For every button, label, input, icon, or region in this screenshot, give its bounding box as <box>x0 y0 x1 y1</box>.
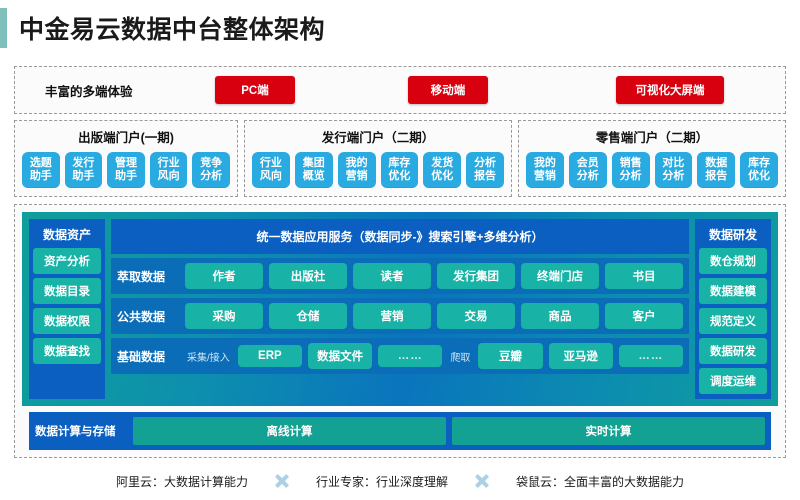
portal-chip-inventory-optimization[interactable]: 库存 优化 <box>381 152 419 188</box>
portal-chip-my-marketing[interactable]: 我的 营销 <box>526 152 564 188</box>
portal-publishing: 出版端门户(一期) 选题 助手 发行 助手 管理 助手 行业 风向 <box>14 120 238 197</box>
chip-line-2: 优化 <box>381 170 419 183</box>
column-item-data-permission[interactable]: 数据权限 <box>33 308 101 334</box>
pill-more-collect[interactable]: …… <box>378 345 442 367</box>
portal-chip-group-overview[interactable]: 集团 概览 <box>295 152 333 188</box>
pill-erp[interactable]: ERP <box>238 345 302 367</box>
compute-storage-label: 数据计算与存储 <box>35 423 127 439</box>
portal-chip-topic-assistant[interactable]: 选题 助手 <box>22 152 60 188</box>
column-data-asset-title: 数据资产 <box>43 223 91 248</box>
pill-customer[interactable]: 客户 <box>605 303 683 329</box>
portal-distribution: 发行端门户（二期） 行业 风向 集团 概览 我的 营销 库存 优化 <box>244 120 512 197</box>
portal-retail-title: 零售端门户（二期） <box>526 127 778 146</box>
sublabel-crawl: 爬取 <box>448 349 472 364</box>
page-header: 中金易云数据中台整体架构 <box>0 0 800 56</box>
chip-line-2: 分析 <box>569 170 607 183</box>
column-item-asset-analysis[interactable]: 资产分析 <box>33 248 101 274</box>
chip-line-2: 助手 <box>107 170 145 183</box>
chip-line-1: 库存 <box>381 157 419 170</box>
portal-chip-distribution-assistant[interactable]: 发行 助手 <box>65 152 103 188</box>
chip-line-1: 销售 <box>612 157 650 170</box>
column-item-data-development[interactable]: 数据研发 <box>699 338 767 364</box>
column-item-data-search[interactable]: 数据查找 <box>33 338 101 364</box>
pill-amazon[interactable]: 亚马逊 <box>549 343 613 369</box>
chip-line-1: 行业 <box>150 157 188 170</box>
pill-transaction[interactable]: 交易 <box>437 303 515 329</box>
multi-terminal-section: 丰富的多端体验 PC端 移动端 可视化大屏端 <box>14 66 786 114</box>
pill-publisher[interactable]: 出版社 <box>269 263 347 289</box>
portal-distribution-chips: 行业 风向 集团 概览 我的 营销 库存 优化 发货 优化 <box>252 152 504 188</box>
footer-capabilities: 阿里云：大数据计算能力 行业专家：行业深度理解 袋鼠云：全面丰富的大数据能力 <box>14 462 786 500</box>
portal-chip-sales-analysis[interactable]: 销售 分析 <box>612 152 650 188</box>
row-public-data-label: 公共数据 <box>117 308 179 325</box>
chip-line-2: 报告 <box>697 170 735 183</box>
chip-line-2: 助手 <box>65 170 103 183</box>
portal-retail-chips: 我的 营销 会员 分析 销售 分析 对比 分析 数据 报告 <box>526 152 778 188</box>
portal-chip-comparison-analysis[interactable]: 对比 分析 <box>655 152 693 188</box>
chip-line-1: 选题 <box>22 157 60 170</box>
chip-line-1: 分析 <box>466 157 504 170</box>
chip-line-2: 概览 <box>295 170 333 183</box>
portal-chip-competition-analysis[interactable]: 竞争 分析 <box>192 152 230 188</box>
pill-douban[interactable]: 豆瓣 <box>478 343 542 369</box>
terminal-button-pc[interactable]: PC端 <box>215 76 295 104</box>
core-platform-section: 数据资产 资产分析 数据目录 数据权限 数据查找 统一数据应用服务（数据同步-》… <box>14 204 786 458</box>
terminal-button-bigscreen[interactable]: 可视化大屏端 <box>616 76 724 104</box>
pill-marketing[interactable]: 营销 <box>353 303 431 329</box>
portal-chip-industry-trend[interactable]: 行业 风向 <box>252 152 290 188</box>
terminal-button-mobile[interactable]: 移动端 <box>408 76 488 104</box>
chip-line-2: 报告 <box>466 170 504 183</box>
pill-catalog[interactable]: 书目 <box>605 263 683 289</box>
chip-line-1: 发行 <box>65 157 103 170</box>
row-basic-data: 基础数据 采集/接入 ERP 数据文件 …… 爬取 豆瓣 亚马逊 …… <box>111 338 689 374</box>
chip-line-1: 竞争 <box>192 157 230 170</box>
chip-line-1: 我的 <box>526 157 564 170</box>
pill-procurement[interactable]: 采购 <box>185 303 263 329</box>
chip-line-1: 管理 <box>107 157 145 170</box>
pill-product[interactable]: 商品 <box>521 303 599 329</box>
column-item-warehouse-planning[interactable]: 数仓规划 <box>699 248 767 274</box>
row-extracted-data-label: 萃取数据 <box>117 268 179 285</box>
sublabel-collect-access: 采集/接入 <box>185 349 232 364</box>
portal-chip-inventory-optimization[interactable]: 库存 优化 <box>740 152 778 188</box>
core-platform-inner: 数据资产 资产分析 数据目录 数据权限 数据查找 统一数据应用服务（数据同步-》… <box>22 212 778 406</box>
chip-line-2: 分析 <box>655 170 693 183</box>
column-item-standard-definition[interactable]: 规范定义 <box>699 308 767 334</box>
chip-line-1: 数据 <box>697 157 735 170</box>
footer-item-dtstack: 袋鼠云：全面丰富的大数据能力 <box>516 473 684 490</box>
compute-storage-row: 数据计算与存储 离线计算 实时计算 <box>29 412 771 450</box>
row-basic-data-label: 基础数据 <box>117 348 179 365</box>
chip-line-2: 助手 <box>22 170 60 183</box>
architecture-diagram-page: 中金易云数据中台整体架构 丰富的多端体验 PC端 移动端 可视化大屏端 出版端门… <box>0 0 800 441</box>
portal-distribution-title: 发行端门户（二期） <box>252 127 504 146</box>
title-accent-bar <box>0 8 7 48</box>
portal-chip-analysis-report[interactable]: 分析 报告 <box>466 152 504 188</box>
portal-chip-member-analysis[interactable]: 会员 分析 <box>569 152 607 188</box>
chip-line-1: 集团 <box>295 157 333 170</box>
row-public-data: 公共数据 采购 仓储 营销 交易 商品 客户 <box>111 298 689 334</box>
footer-item-industry-expert: 行业专家：行业深度理解 <box>316 473 448 490</box>
chip-line-2: 风向 <box>150 170 188 183</box>
portal-chip-my-marketing[interactable]: 我的 营销 <box>338 152 376 188</box>
pill-warehousing[interactable]: 仓储 <box>269 303 347 329</box>
portal-chip-shipping-optimization[interactable]: 发货 优化 <box>423 152 461 188</box>
x-mark-icon <box>474 473 490 489</box>
chip-line-1: 对比 <box>655 157 693 170</box>
portal-publishing-title: 出版端门户(一期) <box>22 127 230 146</box>
portal-retail: 零售端门户（二期） 我的 营销 会员 分析 销售 分析 对比 分析 <box>518 120 786 197</box>
core-center: 统一数据应用服务（数据同步-》搜索引擎+多维分析） 萃取数据 作者 出版社 读者… <box>111 219 689 399</box>
pill-data-file[interactable]: 数据文件 <box>308 343 372 369</box>
pill-more-crawl[interactable]: …… <box>619 345 683 367</box>
column-item-data-catalog[interactable]: 数据目录 <box>33 278 101 304</box>
portal-publishing-chips: 选题 助手 发行 助手 管理 助手 行业 风向 竞争 分析 <box>22 152 230 188</box>
chip-line-2: 风向 <box>252 170 290 183</box>
x-mark-icon <box>274 473 290 489</box>
column-item-scheduling-ops[interactable]: 调度运维 <box>699 368 767 394</box>
column-data-development: 数据研发 数仓规划 数据建模 规范定义 数据研发 调度运维 <box>695 219 771 399</box>
chip-line-1: 发货 <box>423 157 461 170</box>
chip-line-2: 分析 <box>612 170 650 183</box>
chip-line-1: 行业 <box>252 157 290 170</box>
pill-distribution-group[interactable]: 发行集团 <box>437 263 515 289</box>
multi-terminal-label: 丰富的多端体验 <box>15 81 215 100</box>
portal-sections: 出版端门户(一期) 选题 助手 发行 助手 管理 助手 行业 风向 <box>14 120 786 197</box>
row-extracted-data: 萃取数据 作者 出版社 读者 发行集团 终端门店 书目 <box>111 258 689 294</box>
chip-line-2: 营销 <box>338 170 376 183</box>
portal-chip-management-assistant[interactable]: 管理 助手 <box>107 152 145 188</box>
portal-chip-industry-trend[interactable]: 行业 风向 <box>150 152 188 188</box>
pill-author[interactable]: 作者 <box>185 263 263 289</box>
chip-line-1: 我的 <box>338 157 376 170</box>
chip-line-2: 营销 <box>526 170 564 183</box>
chip-line-1: 会员 <box>569 157 607 170</box>
multi-terminal-buttons: PC端 移动端 可视化大屏端 <box>215 76 785 104</box>
portal-chip-data-report[interactable]: 数据 报告 <box>697 152 735 188</box>
footer-item-alicloud: 阿里云：大数据计算能力 <box>116 473 248 490</box>
unified-service-band: 统一数据应用服务（数据同步-》搜索引擎+多维分析） <box>111 219 689 254</box>
chip-line-2: 优化 <box>423 170 461 183</box>
column-item-data-modeling[interactable]: 数据建模 <box>699 278 767 304</box>
chip-line-2: 优化 <box>740 170 778 183</box>
column-data-development-title: 数据研发 <box>709 223 757 248</box>
chip-line-2: 分析 <box>192 170 230 183</box>
pill-terminal-store[interactable]: 终端门店 <box>521 263 599 289</box>
chip-line-1: 库存 <box>740 157 778 170</box>
pill-reader[interactable]: 读者 <box>353 263 431 289</box>
page-title: 中金易云数据中台整体架构 <box>19 10 325 46</box>
column-data-asset: 数据资产 资产分析 数据目录 数据权限 数据查找 <box>29 219 105 399</box>
